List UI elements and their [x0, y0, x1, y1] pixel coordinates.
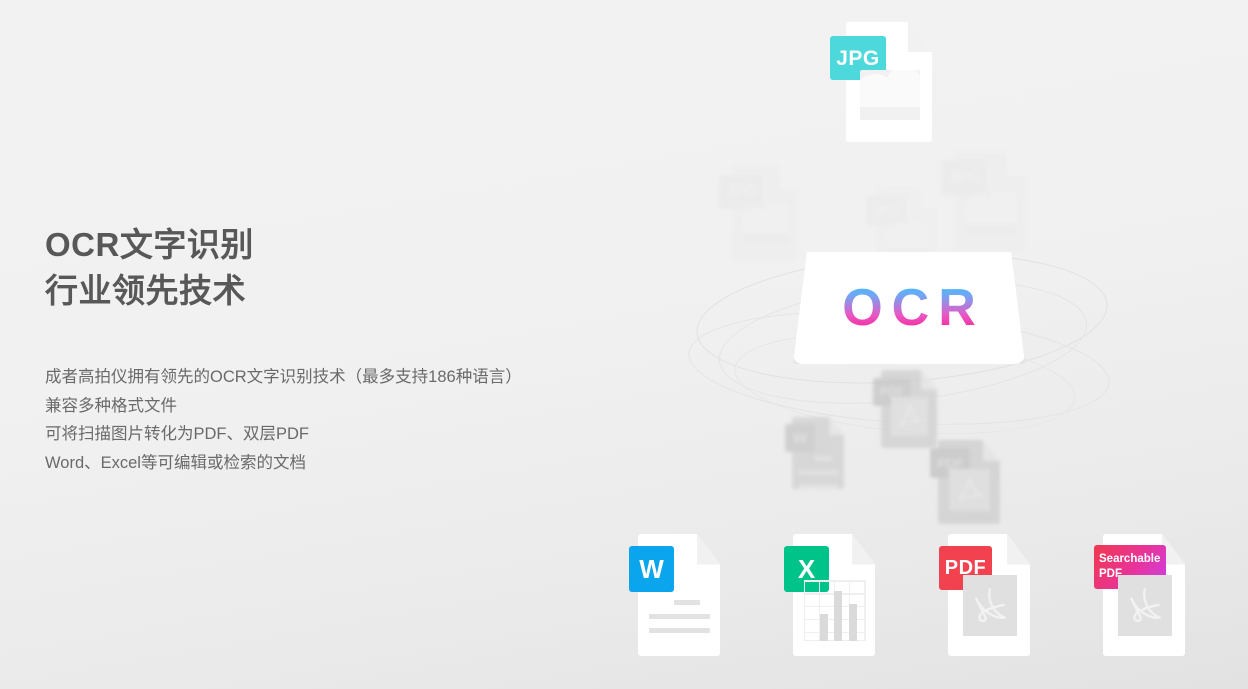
word-line [649, 614, 710, 619]
word-badge: W [629, 546, 674, 592]
word-line [799, 470, 837, 475]
hero-copy: OCR文字识别 行业领先技术 成者高拍仪拥有领先的OCR文字识别技术（最多支持1… [45, 222, 645, 477]
page-fold [780, 165, 799, 189]
hero-description-line-1: 成者高拍仪拥有领先的OCR文字识别技术（最多支持186种语言） [45, 363, 645, 392]
page-title-line-2: 行业领先技术 [45, 268, 645, 314]
page-fold [908, 22, 932, 52]
searchable-pdf-file-icon: Searchable PDF [1103, 534, 1185, 656]
pdf-swoosh-icon [895, 401, 925, 431]
pdf-preview-box [963, 575, 1017, 636]
word-text-lines [799, 456, 837, 498]
word-file-icon: W [638, 534, 720, 656]
word-line [674, 600, 701, 605]
page-title: OCR文字识别 行业领先技术 [45, 222, 645, 313]
hero-stage: OCR文字识别 行业领先技术 成者高拍仪拥有领先的OCR文字识别技术（最多支持1… [0, 0, 1248, 689]
hero-description-line-4: Word、Excel等可编辑或检索的文档 [45, 449, 645, 478]
excel-file-icon: X [793, 534, 875, 656]
page-fold [829, 417, 844, 435]
pdf-ghost-upper-icon: PDF [881, 370, 937, 448]
word-ghost-icon: W [792, 417, 844, 489]
page-title-line-1: OCR文字识别 [45, 222, 645, 268]
excel-chart-grid [804, 580, 866, 641]
jpg-ghost-right-badge: JPG [941, 160, 987, 196]
word-ghost-badge: W [785, 424, 815, 452]
word-line [649, 628, 710, 633]
pdf-swoosh-icon [1124, 585, 1166, 627]
pdf-preview-box [949, 469, 990, 511]
ocr-card: OCR [793, 252, 1025, 364]
jpg-file-icon: JPG [846, 22, 932, 142]
page-fold [983, 440, 1000, 461]
hero-description: 成者高拍仪拥有领先的OCR文字识别技术（最多支持186种语言） 兼容多种格式文件… [45, 363, 645, 477]
page-fold [921, 370, 937, 390]
pdf-file-icon: PDF [948, 534, 1030, 656]
hero-description-line-2: 兼容多种格式文件 [45, 392, 645, 421]
pdf-swoosh-icon [969, 585, 1011, 627]
page-fold [921, 186, 938, 208]
pdf-preview-box [891, 397, 928, 436]
pdf-preview-box [1118, 575, 1172, 636]
word-line [815, 456, 832, 461]
photo-hill-2 [988, 192, 1017, 224]
page-fold [1007, 534, 1030, 565]
photo-ground [860, 107, 920, 120]
word-text-lines [649, 600, 710, 642]
hero-description-line-3: 可将扫描图片转化为PDF、双层PDF [45, 420, 645, 449]
page-fold [1006, 150, 1027, 176]
photo-thumb [860, 70, 920, 120]
ocr-card-label: OCR [833, 278, 985, 338]
page-fold [852, 534, 875, 565]
pdf-ghost-lower-icon: PDF [938, 440, 1000, 524]
photo-hill-2 [886, 70, 920, 107]
word-line [799, 484, 837, 489]
searchable-pdf-badge-line-1: Searchable [1099, 552, 1160, 567]
pdf-swoosh-icon [954, 474, 986, 506]
page-fold [697, 534, 720, 565]
